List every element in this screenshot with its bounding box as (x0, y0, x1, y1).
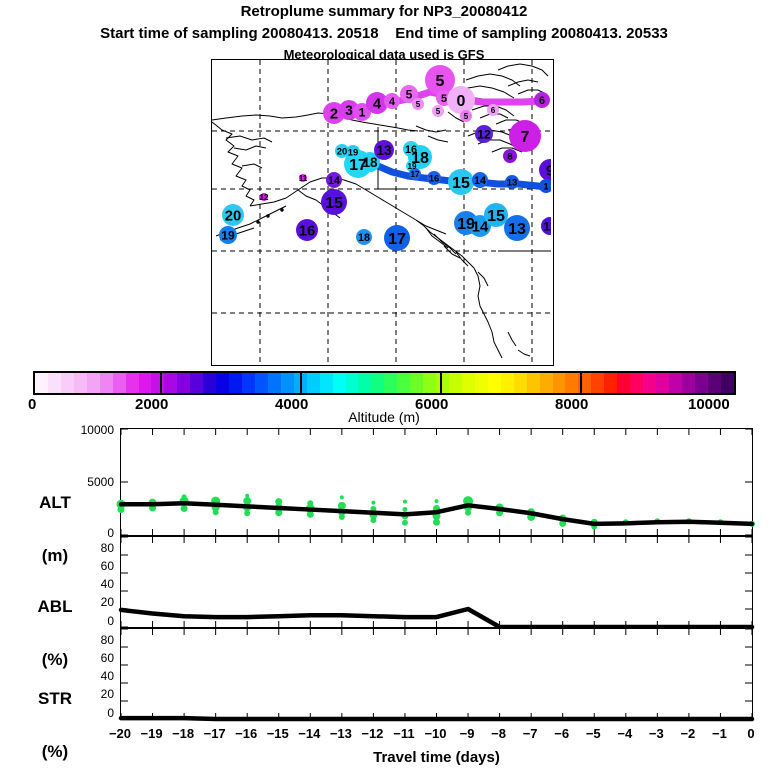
x-tick-label-1: −19 (135, 726, 169, 741)
alt-scatter-point (435, 499, 439, 503)
colorbar-swatch-38 (527, 373, 540, 393)
trajectory-marker-label: 4 (389, 96, 395, 108)
alt-scatter-point (370, 517, 376, 523)
sampling-time-subtitle: Start time of sampling 20080413. 20518 E… (0, 25, 768, 42)
alt-scatter-point (371, 501, 375, 505)
trajectory-marker-label: 11 (299, 174, 308, 183)
x-tick-label-7: −13 (324, 726, 358, 741)
trajectory-marker-label: 4 (373, 96, 382, 112)
trajectory-marker-label: 14 (474, 175, 486, 187)
trajectory-marker-label: 2 (330, 106, 338, 122)
x-tick-label-19: −1 (702, 726, 736, 741)
colorbar-swatch-3 (74, 373, 87, 393)
colorbar-swatch-15 (229, 373, 242, 393)
trajectory-marker-label: 3 (345, 103, 353, 118)
colorbar-swatch-36 (501, 373, 514, 393)
x-tick-label-9: −11 (387, 726, 421, 741)
colorbar-swatch-22 (320, 373, 333, 393)
colorbar-swatch-29 (410, 373, 423, 393)
colorbar-swatch-53 (721, 373, 734, 393)
str-plot (120, 628, 753, 720)
trajectory-marker-label: 7 (521, 129, 530, 146)
colorbar-swatch-45 (617, 373, 630, 393)
colorbar-swatch-18 (268, 373, 281, 393)
trajectory-marker-label: 13 (507, 177, 518, 188)
colorbar-swatch-28 (397, 373, 410, 393)
x-tick-label-14: −6 (545, 726, 579, 741)
colorbar-swatch-35 (488, 373, 501, 393)
colorbar-swatch-17 (255, 373, 268, 393)
str-ytick-20: 20 (68, 687, 114, 701)
trajectory-marker-label: 0 (457, 93, 466, 110)
colorbar-swatch-6 (113, 373, 126, 393)
trajectory-marker-label: 14 (328, 175, 340, 187)
str-axis-ticks (121, 629, 752, 719)
abl-ytick-20: 20 (68, 595, 114, 609)
trajectory-marker-label: 13 (508, 221, 526, 238)
altitude-plot (120, 428, 753, 536)
page-title: Retroplume summary for NP3_20080412 (0, 3, 768, 20)
x-tick-label-13: −7 (513, 726, 547, 741)
colorbar-swatch-19 (281, 373, 294, 393)
colorbar-swatch-41 (565, 373, 578, 393)
map-canvas: 2314455555056671289201920191718131618191… (212, 60, 551, 363)
colorbar-swatch-46 (630, 373, 643, 393)
retroplume-map: 2314455555056671289201920191718131618191… (211, 59, 554, 366)
alt-scatter-point (402, 507, 407, 512)
colorbar-swatch-52 (708, 373, 721, 393)
abl-ytick-60: 60 (68, 559, 114, 573)
x-tick-label-3: −17 (198, 726, 232, 741)
trajectory-marker-label: 20 (337, 146, 348, 157)
altitude-plot-canvas (121, 429, 752, 535)
colorbar-swatch-33 (462, 373, 475, 393)
alt-ytick-0: 0 (68, 526, 114, 540)
colorbar-swatch-34 (475, 373, 488, 393)
trajectory-marker-label: 1 (359, 105, 366, 119)
colorbar-swatch-39 (540, 373, 553, 393)
colorbar-swatch-16 (242, 373, 255, 393)
colorbar-separator (580, 371, 582, 395)
colorbar-swatch-32 (449, 373, 462, 393)
x-tick-label-12: −8 (482, 726, 516, 741)
colorbar-swatch-43 (591, 373, 604, 393)
trajectory-marker-label: 6 (539, 95, 545, 107)
trajectory-marker-label: 5 (441, 93, 447, 105)
str-row-label-line2: (%) (12, 743, 98, 761)
colorbar-separator (160, 371, 162, 395)
trajectory-marker-label: 18 (358, 232, 370, 244)
colorbar-swatch-7 (126, 373, 139, 393)
alt-ytick-5000: 5000 (68, 475, 114, 489)
trajectory-marker-label: 12 (477, 127, 491, 141)
str-plot-canvas (121, 629, 752, 719)
x-tick-label-18: −2 (671, 726, 705, 741)
str-trend-line (121, 718, 752, 719)
abl-plot-canvas (121, 537, 752, 627)
colorbar-swatch-23 (333, 373, 346, 393)
trajectory-marker-label: 12 (543, 219, 551, 233)
trajectory-marker-label: 5 (436, 107, 441, 116)
trajectory-marker-label: 20 (225, 208, 242, 224)
str-ytick-60: 60 (68, 651, 114, 665)
x-tick-label-2: −18 (166, 726, 200, 741)
abl-plot (120, 536, 753, 628)
trajectory-marker-label: 15 (325, 195, 343, 212)
trajectory-marker-label: 6 (491, 106, 496, 115)
colorbar-swatch-12 (190, 373, 203, 393)
trajectory-marker-label: 9 (546, 163, 551, 179)
x-tick-label-6: −14 (292, 726, 326, 741)
abl-ytick-40: 40 (68, 577, 114, 591)
colorbar-swatch-10 (164, 373, 177, 393)
alt-scatter-point (433, 519, 440, 526)
x-tick-label-5: −15 (261, 726, 295, 741)
alt-scatter-point (181, 505, 188, 512)
colorbar-swatch-40 (553, 373, 566, 393)
colorbar-swatch-30 (423, 373, 436, 393)
colorbar-swatch-50 (682, 373, 695, 393)
altitude-colorbar (33, 371, 736, 395)
alt-row-label-line1: ALT (12, 494, 98, 512)
x-tick-label-10: −10 (419, 726, 453, 741)
colorbar-swatch-13 (203, 373, 216, 393)
abl-axis-ticks (121, 537, 752, 627)
colorbar-swatch-14 (216, 373, 229, 393)
colorbar-swatch-8 (139, 373, 152, 393)
trajectory-marker-label: 17 (410, 170, 420, 179)
trajectory-marker-label: 15 (452, 175, 470, 192)
x-tick-label-16: −4 (608, 726, 642, 741)
abl-ytick-80: 80 (68, 541, 114, 555)
trajectory-marker-label: 16 (429, 173, 440, 184)
alt-scatter-point (465, 510, 471, 516)
str-ytick-40: 40 (68, 669, 114, 683)
trajectory-marker-label: 5 (436, 73, 445, 90)
colorbar-swatch-21 (307, 373, 320, 393)
x-tick-label-0: −20 (103, 726, 137, 741)
trajectory-marker-label: 8 (507, 151, 512, 162)
colorbar-swatch-1 (48, 373, 61, 393)
colorbar-swatch-25 (358, 373, 371, 393)
colorbar-swatch-26 (371, 373, 384, 393)
trajectory-marker-label: 5 (406, 87, 413, 101)
alt-ytick-10000: 10000 (68, 423, 114, 437)
abl-ytick-0: 0 (68, 614, 114, 628)
colorbar-swatch-5 (100, 373, 113, 393)
colorbar-swatch-2 (61, 373, 74, 393)
colorbar-axis-label: Altitude (m) (0, 409, 768, 425)
colorbar-swatch-11 (177, 373, 190, 393)
colorbar-swatch-9 (151, 373, 164, 393)
alt-scatter-point (244, 510, 250, 516)
trajectory-marker-label: 19 (221, 228, 235, 242)
alt-scatter-point (213, 509, 219, 515)
trajectory-marker-label: 5 (464, 112, 469, 121)
alt-scatter-point (402, 520, 408, 526)
trajectory-marker-label: 16 (299, 223, 316, 239)
colorbar-separator (300, 371, 302, 395)
colorbar-swatch-4 (87, 373, 100, 393)
str-ytick-0: 0 (68, 706, 114, 720)
colorbar-swatch-27 (384, 373, 397, 393)
trajectory-marker-label: 15 (487, 208, 505, 225)
trajectory-marker-label: 13 (376, 143, 392, 158)
alt-scatter-point (340, 495, 344, 499)
alt-scatter-point (339, 514, 345, 520)
colorbar-swatch-44 (604, 373, 617, 393)
trajectory-marker-label: 12 (260, 193, 269, 202)
x-tick-label-20: 0 (734, 726, 768, 741)
str-ytick-80: 80 (68, 633, 114, 647)
x-tick-label-17: −3 (639, 726, 673, 741)
alt-scatter-point (118, 506, 125, 513)
trajectory-marker-label: 5 (416, 100, 421, 109)
colorbar-swatch-0 (35, 373, 48, 393)
colorbar-swatch-49 (669, 373, 682, 393)
colorbar-swatch-24 (346, 373, 359, 393)
colorbar-swatch-37 (514, 373, 527, 393)
colorbar-swatch-51 (695, 373, 708, 393)
trajectory-marker-layer: 2314455555056671289201920191718131618191… (219, 65, 551, 251)
x-tick-label-8: −12 (355, 726, 389, 741)
x-axis-title: Travel time (days) (120, 749, 753, 766)
x-tick-label-4: −16 (229, 726, 263, 741)
colorbar-swatch-31 (436, 373, 449, 393)
alt-scatter-point (403, 500, 407, 504)
x-tick-label-15: −5 (576, 726, 610, 741)
x-tick-label-11: −9 (450, 726, 484, 741)
colorbar-swatch-47 (643, 373, 656, 393)
trajectory-marker-label: 1 (543, 181, 548, 192)
colorbar-separator (440, 371, 442, 395)
colorbar-swatch-48 (656, 373, 669, 393)
trajectory-marker-label: 17 (388, 231, 406, 248)
